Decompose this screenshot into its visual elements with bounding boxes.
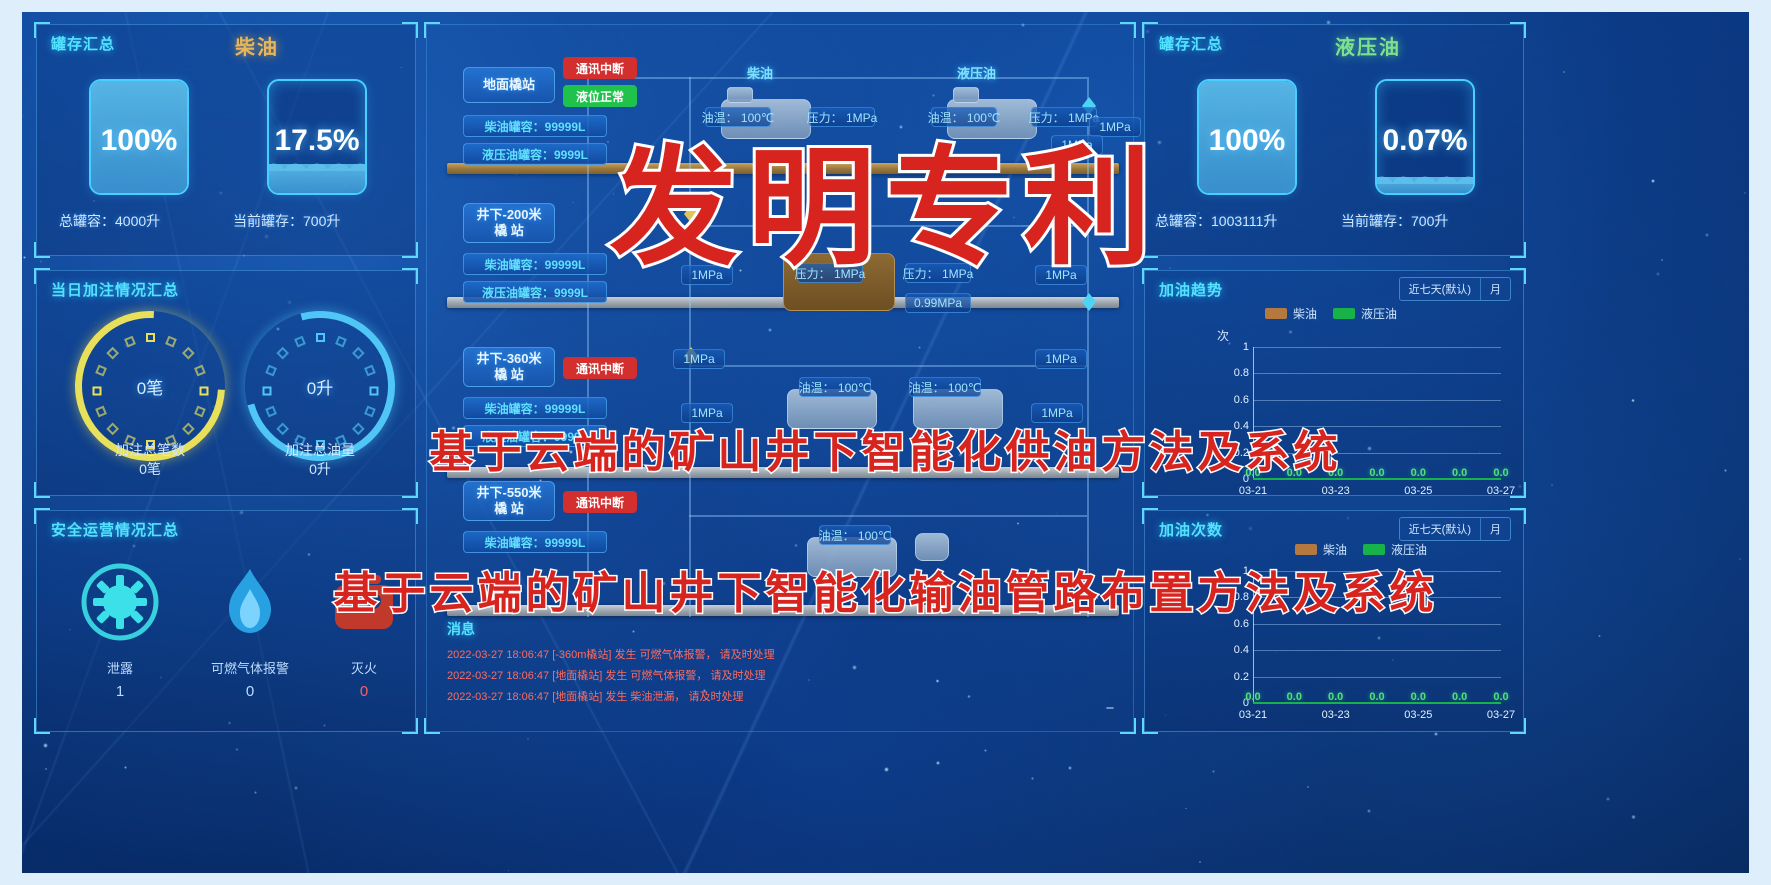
panel-title-tank-summary-left: 罐存汇总 — [51, 33, 115, 54]
corner-decoration — [402, 22, 418, 38]
tank-caption-current-left: 当前罐存：700升 — [233, 211, 340, 231]
station-box-200m[interactable]: 井下-200米 橇 站 — [463, 203, 555, 243]
pipe-vertical-right — [1087, 77, 1089, 617]
sensor-pressure-4: 压力： 1MPa — [905, 263, 971, 283]
gauge-caption-line1: 加注总笔数 — [97, 441, 203, 460]
gauge-caption-fill-count: 加注总笔数 0笔 — [97, 441, 203, 479]
tank-percent-current-left: 17.5% — [269, 124, 365, 158]
level-beam-360m — [447, 467, 1119, 478]
corner-decoration — [424, 22, 440, 38]
chart-plot-count: 00.20.40.60.8103-210.00.003-230.00.003-2… — [1145, 511, 1525, 733]
corner-decoration — [424, 718, 440, 734]
message-panel-title: 消息 — [447, 619, 1111, 639]
oil-type-label-diesel: 柴油 — [235, 31, 279, 60]
pipe-horizontal-top — [587, 77, 1087, 79]
station-tank-200m-hydraulic: 液压油罐容：9999L — [463, 281, 607, 303]
flame-icon — [207, 559, 293, 645]
sensor-pressure-1: 压力： 1MPa — [809, 107, 875, 127]
sensor-pressure-3: 压力： 1MPa — [797, 263, 863, 283]
tank-fill — [1377, 177, 1473, 193]
tank-wave-decoration — [1375, 170, 1475, 184]
panel-center-schematic: 柴油 液压油 地面橇站 通讯中断 液位正常 柴油罐容：99999L 液压油罐容：… — [426, 24, 1134, 732]
tank-percent-current-right: 0.07% — [1377, 124, 1473, 158]
corner-decoration — [34, 508, 50, 524]
gauge-caption-line1: 加注总油量 — [267, 441, 373, 460]
gauge-fill-count: 0笔 — [75, 311, 225, 461]
vessel-550m-aux — [915, 533, 949, 561]
safety-item-gas-alarm: 可燃气体报警 0 — [185, 559, 315, 700]
panel-refuel-count: 加油次数 近七天(默认) 月 柴油 液压油 00.20.40.60.8103-2… — [1144, 510, 1524, 732]
oil-label-hydraulic: 液压油 — [957, 63, 996, 82]
tank-percent-total-right: 100% — [1199, 124, 1295, 158]
safety-label-fire: 灭火 — [319, 658, 409, 677]
pipe-horizontal-200 — [689, 225, 1087, 227]
station-box-ground[interactable]: 地面橇站 — [463, 67, 555, 103]
tank-caption-total-left: 总罐容：4000升 — [59, 211, 160, 231]
sensor-oil-temp-1: 油温： 100℃ — [705, 107, 771, 127]
vessel-neck — [953, 87, 979, 103]
pressure-chip-6: 1MPa — [681, 403, 733, 423]
tank-gauge-current-right: 0.07% — [1375, 79, 1475, 195]
safety-label-gas-alarm: 可燃气体报警 — [185, 658, 315, 677]
sensor-pressure-5: 0.99MPa — [905, 293, 971, 313]
sensor-oil-temp-3: 油温： 100℃ — [799, 377, 871, 397]
panel-title-daily-fill: 当日加注情况汇总 — [51, 279, 179, 300]
fire-extinguisher-icon — [321, 559, 407, 645]
tank-fill — [269, 164, 365, 193]
tank-wave-decoration — [267, 157, 367, 171]
corner-decoration — [34, 482, 50, 498]
corner-decoration — [1142, 22, 1158, 38]
station-box-360m[interactable]: 井下-360米 橇 站 — [463, 347, 555, 387]
gauge-caption-line2: 0笔 — [97, 460, 203, 479]
corner-decoration — [402, 718, 418, 734]
tank-caption-total-right: 总罐容：1003111升 — [1155, 211, 1277, 231]
safety-item-leak: 泄露 1 — [65, 559, 175, 700]
pressure-chip-5: 1MPa — [1035, 349, 1087, 369]
sensor-oil-temp-4: 油温： 100℃ — [909, 377, 981, 397]
safety-label-leak: 泄露 — [65, 658, 175, 677]
sensor-oil-temp-5: 油温： 100℃ — [819, 525, 891, 545]
corner-decoration — [1510, 22, 1526, 38]
corner-decoration — [402, 482, 418, 498]
gauge-caption-fill-volume: 加注总油量 0升 — [267, 441, 373, 479]
station-tank-360m-hydraulic: 液压油罐容：9999L — [463, 425, 607, 447]
tank-gauge-total-left: 100% — [89, 79, 189, 195]
pressure-chip-8: 1MPa — [1051, 135, 1103, 155]
panel-right-tank-summary: 罐存汇总 液压油 100% 总罐容：1003111升 0.07% 当前罐存：70… — [1144, 24, 1524, 256]
vessel-neck — [727, 87, 753, 103]
station-chip-550m-comm: 通讯中断 — [563, 491, 637, 513]
oil-label-diesel: 柴油 — [747, 63, 773, 82]
level-beam-550m — [447, 605, 1119, 616]
corner-decoration — [1510, 242, 1526, 258]
gauge-fill-volume: 0升 — [245, 311, 395, 461]
panel-daily-fill-summary: 当日加注情况汇总 0笔 加注总笔数 0笔 0升 加注总油量 0升 — [36, 270, 416, 496]
panel-title-tank-summary-right: 罐存汇总 — [1159, 33, 1223, 54]
screenshot-root: 罐存汇总 柴油 100% 总罐容：4000升 17.5% 当前罐存：700升 当… — [0, 0, 1771, 885]
tank-caption-current-right: 当前罐存：700升 — [1341, 211, 1448, 231]
gear-icon — [77, 559, 163, 645]
station-box-550m[interactable]: 井下-550米 橇 站 — [463, 481, 555, 521]
panel-safety-summary: 安全运营情况汇总 — [36, 510, 416, 732]
message-row: 2022-03-27 18:06:47 [-360m橇站] 发生 可燃气体报警，… — [447, 645, 1111, 666]
station-tank-200m-diesel: 柴油罐容：99999L — [463, 253, 607, 275]
tank-percent-total-left: 100% — [91, 124, 187, 158]
corner-decoration — [34, 268, 50, 284]
message-list[interactable]: 2022-03-27 18:06:47 [-360m橇站] 发生 可燃气体报警，… — [447, 645, 1111, 708]
corner-decoration — [402, 242, 418, 258]
pipe-horizontal-360 — [689, 365, 1087, 367]
station-tank-ground-hydraulic: 液压油罐容：9999L — [463, 143, 607, 165]
sensor-pressure-2: 压力： 1MPa — [1031, 107, 1097, 127]
corner-decoration — [34, 22, 50, 38]
safety-item-fire: 灭火 0 — [319, 559, 409, 700]
gauge-value-fill-volume: 0升 — [245, 311, 395, 461]
pipe-horizontal-550 — [689, 515, 1087, 517]
panel-refuel-trend: 加油趋势 近七天(默认) 月 柴油 液压油 次 00.20.40.60.8103… — [1144, 270, 1524, 496]
message-row: 2022-03-27 18:06:47 [地面橇站] 发生 柴油泄漏， 请及时处… — [447, 687, 1111, 708]
station-tank-550m-diesel: 柴油罐容：99999L — [463, 531, 607, 553]
sensor-oil-temp-2: 油温： 100℃ — [931, 107, 997, 127]
station-chip-360m-comm: 通讯中断 — [563, 357, 637, 379]
oil-type-label-hydraulic: 液压油 — [1335, 31, 1401, 60]
pressure-chip-3: 1MPa — [1035, 265, 1087, 285]
chart-plot-trend: 00.20.40.60.8103-210.00.003-230.00.003-2… — [1145, 271, 1525, 497]
safety-value-gas-alarm: 0 — [185, 683, 315, 700]
corner-decoration — [34, 718, 50, 734]
pressure-chip-2: 1MPa — [681, 265, 733, 285]
station-chip-ground-level: 液位正常 — [563, 85, 637, 107]
corner-decoration — [402, 268, 418, 284]
corner-decoration — [34, 242, 50, 258]
pressure-chip-4: 1MPa — [673, 349, 725, 369]
corner-decoration — [402, 508, 418, 524]
gauge-caption-line2: 0升 — [267, 460, 373, 479]
pressure-chip-1: 1MPa — [1089, 117, 1141, 137]
chart-series-svg — [1145, 271, 1525, 497]
zoom-out-button[interactable]: − — [1101, 701, 1119, 719]
corner-decoration — [1120, 718, 1136, 734]
message-row: 2022-03-27 18:06:47 [地面橇站] 发生 可燃气体报警， 请及… — [447, 666, 1111, 687]
dashboard-canvas: 罐存汇总 柴油 100% 总罐容：4000升 17.5% 当前罐存：700升 当… — [22, 12, 1749, 873]
safety-value-fire: 0 — [319, 683, 409, 700]
safety-value-leak: 1 — [65, 683, 175, 700]
corner-decoration — [1142, 242, 1158, 258]
pressure-chip-7: 1MPa — [1031, 403, 1083, 423]
gauge-value-fill-count: 0笔 — [75, 311, 225, 461]
panel-left-tank-summary: 罐存汇总 柴油 100% 总罐容：4000升 17.5% 当前罐存：700升 — [36, 24, 416, 256]
corner-decoration — [1120, 22, 1136, 38]
chart-series-svg — [1145, 511, 1525, 733]
station-tank-360m-diesel: 柴油罐容：99999L — [463, 397, 607, 419]
message-panel: 消息 2022-03-27 18:06:47 [-360m橇站] 发生 可燃气体… — [447, 619, 1111, 719]
station-tank-ground-diesel: 柴油罐容：99999L — [463, 115, 607, 137]
tank-gauge-total-right: 100% — [1197, 79, 1297, 195]
panel-title-safety: 安全运营情况汇总 — [51, 519, 179, 540]
station-chip-ground-comm: 通讯中断 — [563, 57, 637, 79]
tank-gauge-current-left: 17.5% — [267, 79, 367, 195]
